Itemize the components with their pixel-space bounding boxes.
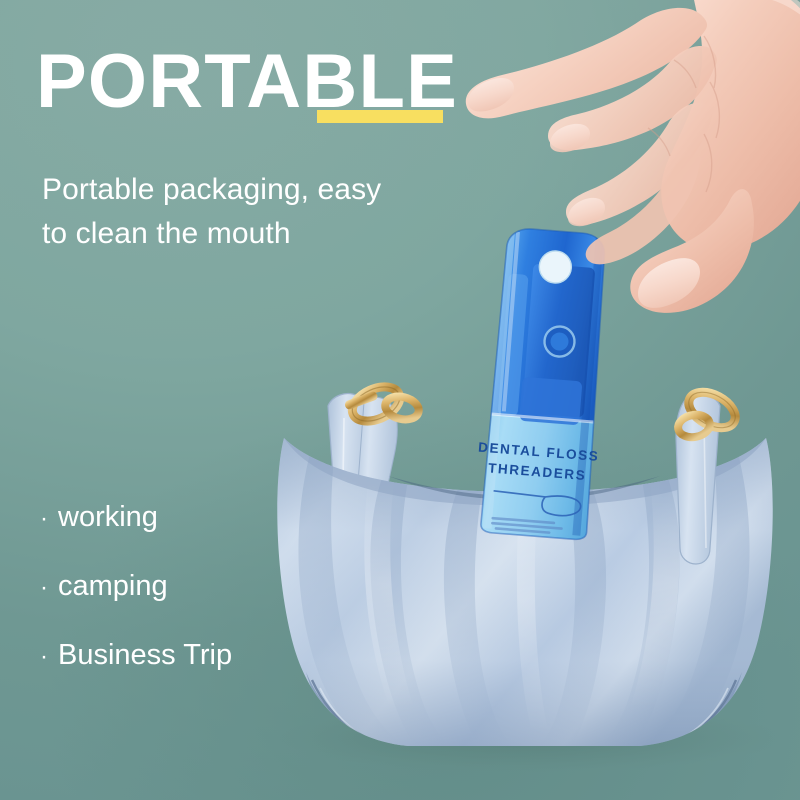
use-case-list: · working · camping · Business Trip [40,502,232,709]
strap-ring-left [344,380,421,428]
subtitle-line-1: Portable packaging, easy [42,168,442,212]
bullet-marker-icon: · [40,642,58,672]
list-item-label: working [58,502,158,532]
list-item-label: camping [58,571,168,601]
list-item: · working [40,502,232,534]
product-marketing-banner: DENTAL FLOSS THREADERS [0,0,800,800]
list-item: · camping [40,571,232,603]
hand-holding-product [452,0,800,338]
page-title: PORTABLE [36,44,458,120]
subtitle-line-2: to clean the mouth [42,212,442,256]
headline-block: PORTABLE [36,44,458,120]
bullet-marker-icon: · [40,504,58,534]
subtitle-block: Portable packaging, easy to clean the mo… [42,168,442,256]
list-item: · Business Trip [40,640,232,672]
list-item-label: Business Trip [58,640,232,670]
bullet-marker-icon: · [40,573,58,603]
